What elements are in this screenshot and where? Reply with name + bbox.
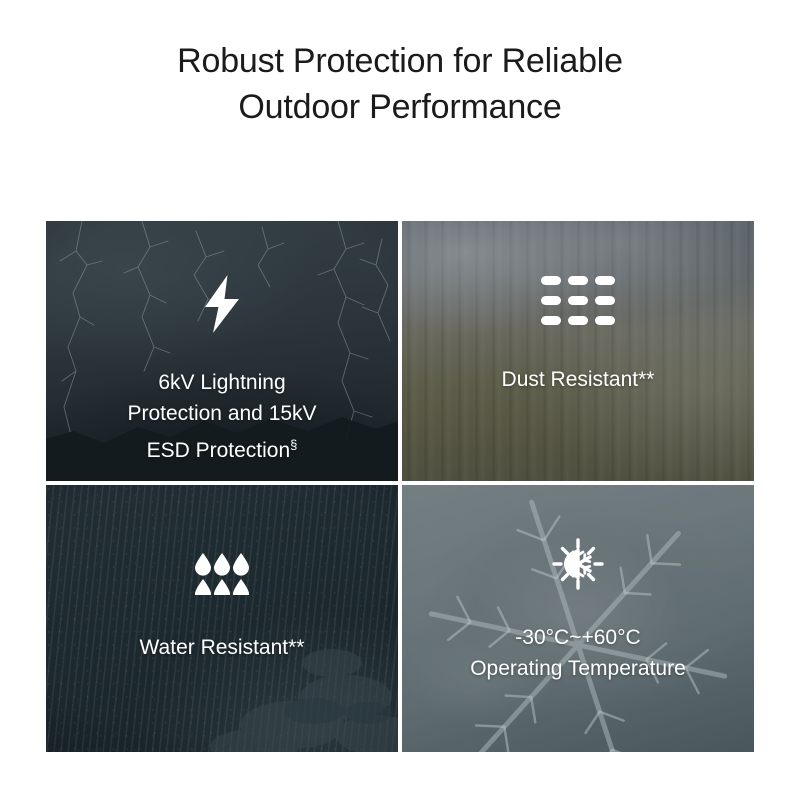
dust-tile-caption: Dust Resistant** — [494, 364, 663, 395]
dust-caption-footnote: ** — [638, 368, 654, 391]
temperature-caption-line-2: Operating Temperature — [470, 657, 686, 680]
lightning-caption-line-3: ESD Protection — [147, 439, 291, 462]
page-title-line-1: Robust Protection for Reliable — [0, 38, 800, 84]
temperature-tile-caption: -30°C~+60°C Operating Temperature — [462, 622, 694, 684]
temperature-caption-line-1: -30°C~+60°C — [515, 626, 640, 649]
feature-grid: 6kV Lightning Protection and 15kV ESD Pr… — [46, 221, 754, 752]
lightning-tile-caption: 6kV Lightning Protection and 15kV ESD Pr… — [119, 367, 324, 466]
water-tile-caption: Water Resistant** — [132, 632, 313, 663]
lightning-caption-line-2: Protection and 15kV — [127, 402, 316, 425]
feature-highlight-page: Robust Protection for Reliable Outdoor P… — [0, 0, 800, 800]
feature-tile-water-resistant[interactable]: Water Resistant** — [46, 485, 398, 752]
page-title-line-2: Outdoor Performance — [0, 84, 800, 130]
dust-grid-icon — [541, 276, 615, 331]
feature-tile-lightning-protection[interactable]: 6kV Lightning Protection and 15kV ESD Pr… — [46, 221, 398, 481]
water-caption-footnote: ** — [288, 636, 304, 659]
lightning-caption-line-1: 6kV Lightning — [158, 371, 285, 394]
feature-tile-operating-temperature[interactable]: -30°C~+60°C Operating Temperature — [402, 485, 754, 752]
sun-snowflake-icon — [551, 537, 605, 596]
lightning-bolt-icon — [196, 273, 248, 340]
water-caption-line-1: Water Resistant — [140, 636, 289, 659]
dust-caption-line-1: Dust Resistant — [502, 368, 639, 391]
page-title: Robust Protection for Reliable Outdoor P… — [0, 38, 800, 130]
feature-tile-dust-resistant[interactable]: Dust Resistant** — [402, 221, 754, 481]
lightning-caption-footnote: § — [290, 437, 297, 452]
water-droplets-icon — [194, 553, 250, 600]
